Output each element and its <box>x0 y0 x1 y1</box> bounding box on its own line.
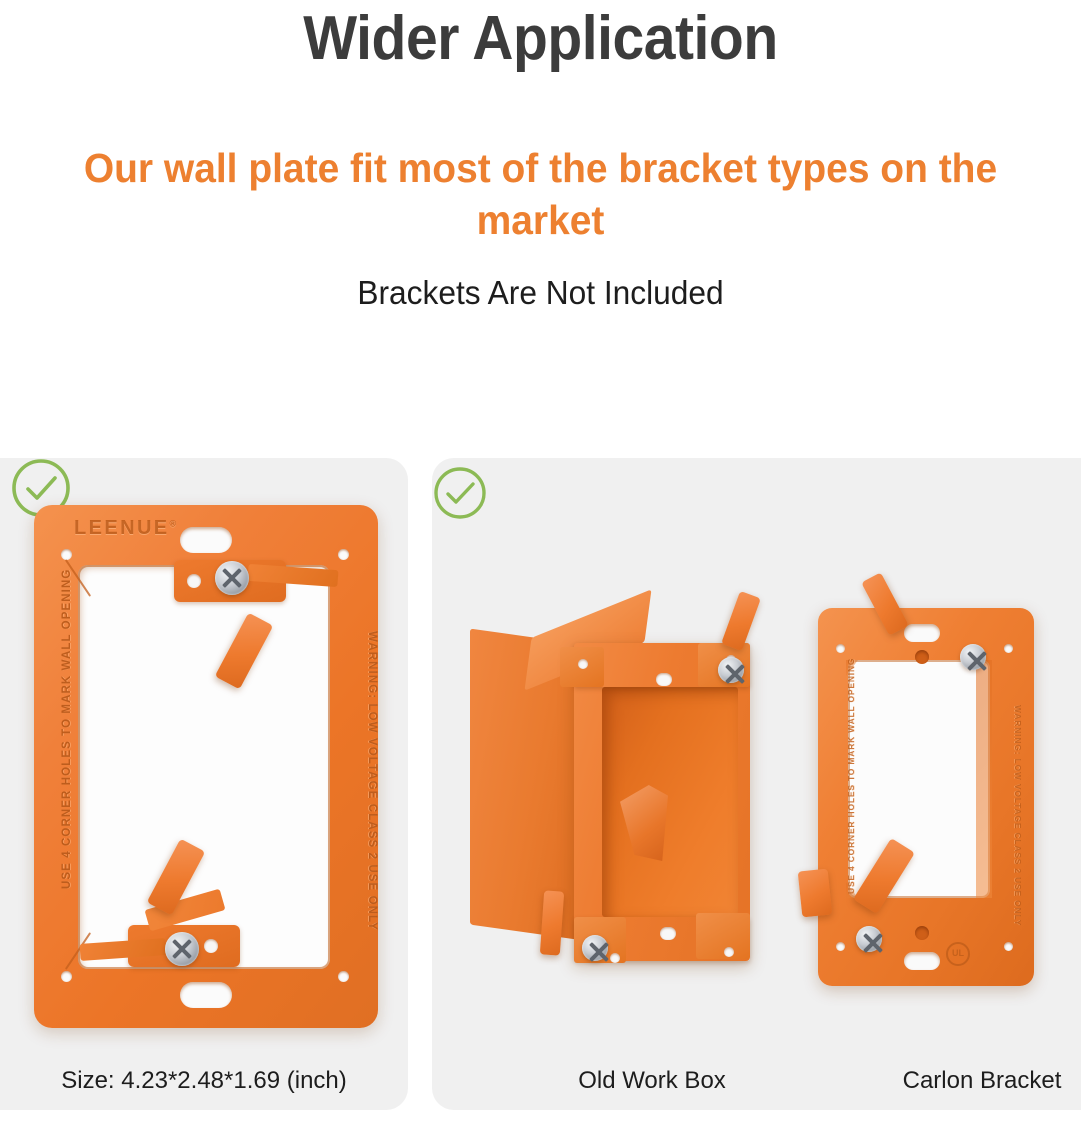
carlon-oval-slot-top <box>904 624 940 642</box>
brand-logo: LEENUE® <box>74 517 179 540</box>
corner-hole-bottom-left <box>61 971 72 982</box>
header-block: Wider Application Our wall plate fit mos… <box>0 0 1081 430</box>
box-ear-hole-bottom-right <box>724 947 734 957</box>
corner-hole-bottom-right <box>338 971 349 982</box>
oval-slot-bottom <box>180 982 232 1008</box>
carlon-top-screw <box>960 644 986 670</box>
box-ear-hole-top-left <box>578 659 588 669</box>
box-top-wing-tab <box>721 591 761 651</box>
bottom-screw <box>165 932 199 966</box>
carlon-knockout-top <box>915 650 929 664</box>
brand-registered-mark: ® <box>170 518 179 528</box>
top-screw <box>215 561 249 595</box>
disclaimer-note: Brackets Are Not Included <box>22 272 1060 314</box>
corner-hole-top-right <box>338 549 349 560</box>
box-bottom-wing-tab <box>540 890 564 955</box>
brand-name: LEENUE <box>74 517 170 539</box>
carlon-corner-hole-top-right <box>1004 644 1013 653</box>
box-slot-top-center <box>656 673 672 686</box>
carlon-corner-hole-bottom-left <box>836 942 845 951</box>
carlon-knockout-bottom <box>915 926 929 940</box>
box-top-screw <box>718 657 744 683</box>
carlon-corner-hole-top-left <box>836 644 845 653</box>
top-pad-hole <box>187 574 201 588</box>
carlon-side-wing-tab <box>798 869 833 918</box>
old-work-box-illustration <box>470 595 790 995</box>
carlon-opening <box>848 660 990 898</box>
wall-plate-illustration: LEENUE® USE 4 CORNER HOLES TO MARK WALL … <box>34 505 378 1028</box>
page-title: Wider Application <box>43 2 1038 76</box>
box-ear-hole-bottom-left <box>610 953 620 963</box>
carlon-bracket-caption: Carlon Bracket <box>832 1066 1081 1096</box>
wall-plate-size-caption: Size: 4.23*2.48*1.69 (inch) <box>0 1066 408 1096</box>
box-ear-bottom-right <box>696 913 750 959</box>
old-work-box-caption: Old Work Box <box>492 1066 812 1096</box>
box-slot-bottom-center <box>660 927 676 940</box>
carlon-corner-hole-bottom-right <box>1004 942 1013 951</box>
carlon-bottom-screw <box>856 926 882 952</box>
page-subtitle: Our wall plate fit most of the bracket t… <box>75 142 1007 246</box>
check-circle-icon <box>430 463 490 528</box>
carlon-bracket-illustration: UL USE 4 CORNER HOLES TO MARK WALL OPENI… <box>818 608 1034 986</box>
emboss-text-right: WARNING: LOW VOLTAGE CLASS 2 USE ONLY <box>366 631 378 921</box>
carlon-emboss-text-right: WARNING: LOW VOLTAGE CLASS 2 USE ONLY <box>1013 705 1023 905</box>
emboss-text-left: USE 4 CORNER HOLES TO MARK WALL OPENING <box>61 639 73 889</box>
carlon-emboss-text-left: USE 4 CORNER HOLES TO MARK WALL OPENING <box>846 704 856 894</box>
oval-slot-top <box>180 527 232 553</box>
bottom-pad-hole <box>204 939 218 953</box>
carlon-oval-slot-bottom <box>904 952 940 970</box>
ul-listing-mark: UL <box>946 942 970 966</box>
carlon-inner-bevel-right <box>976 660 992 898</box>
box-bottom-screw <box>582 935 608 961</box>
